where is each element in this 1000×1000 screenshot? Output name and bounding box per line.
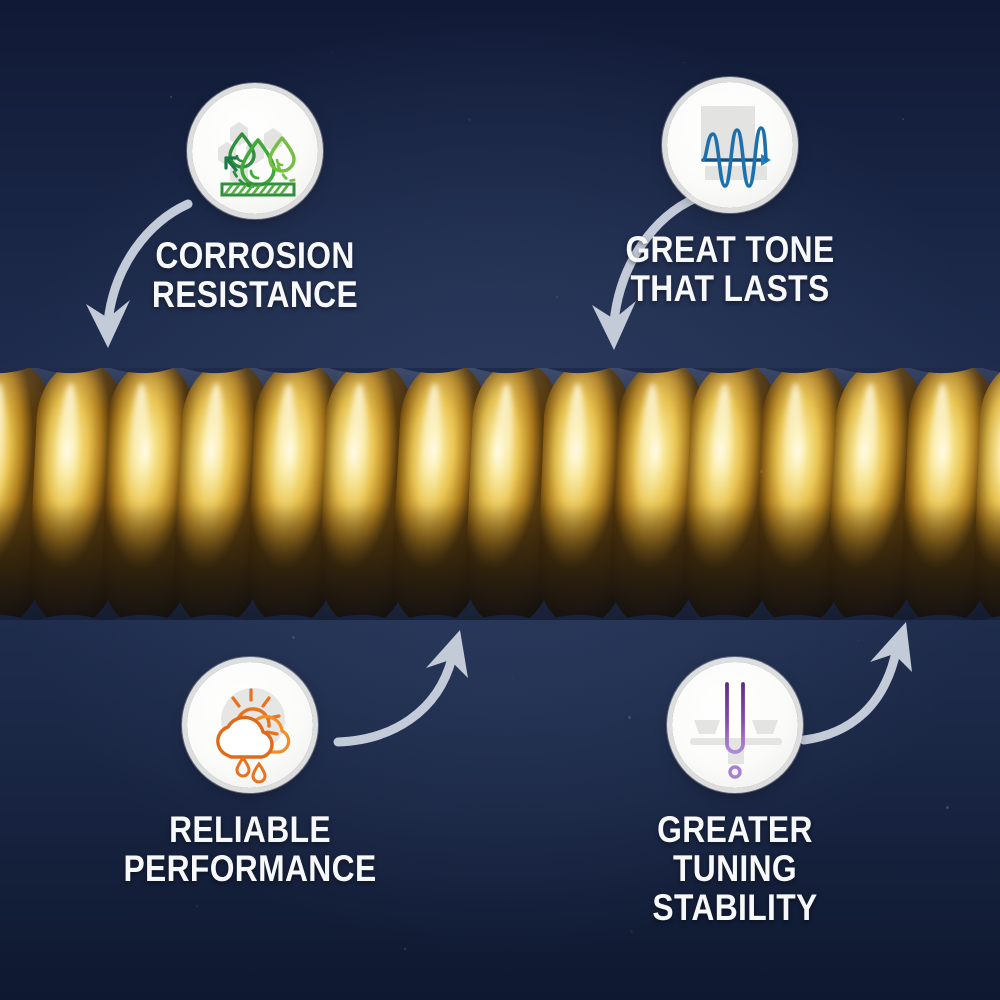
string-coil-group xyxy=(0,368,1000,620)
feature-reliable-performance: RELIABLE PERFORMANCE xyxy=(85,662,415,888)
feature-corrosion-resistance: CORROSION RESISTANCE xyxy=(90,88,420,314)
feature-greater-tuning-stability: GREATER TUNING STABILITY xyxy=(570,662,900,928)
product-image-gold-string xyxy=(0,368,1000,620)
background-speckle xyxy=(196,905,198,907)
tuning-fork-icon xyxy=(672,662,798,788)
background-speckle xyxy=(556,296,558,298)
feature-label-tone: GREAT TONE THAT LASTS xyxy=(588,230,872,308)
background-speckle xyxy=(332,52,333,53)
background-speckle xyxy=(684,62,685,63)
water-droplets-repelling-icon xyxy=(192,88,318,214)
badge-corrosion xyxy=(192,88,318,214)
sun-cloud-rain-icon xyxy=(187,662,313,788)
background-speckle xyxy=(404,948,406,950)
background-speckle xyxy=(512,678,513,679)
badge-tone xyxy=(667,82,793,208)
badge-tuning xyxy=(672,662,798,788)
badge-reliable xyxy=(187,662,313,788)
background-speckle xyxy=(858,640,859,641)
background-speckle xyxy=(630,930,633,933)
background-speckle xyxy=(292,636,295,639)
background-speckle xyxy=(468,118,471,121)
background-speckle xyxy=(902,118,904,120)
feature-label-tuning: GREATER TUNING STABILITY xyxy=(593,810,877,928)
feature-label-reliable: RELIABLE PERFORMANCE xyxy=(108,810,392,888)
background-speckle xyxy=(946,806,949,809)
sound-wave-icon xyxy=(667,82,793,208)
feature-great-tone: GREAT TONE THAT LASTS xyxy=(565,82,895,308)
infographic-canvas: CORROSION RESISTANCE GREAT TONE THAT LAS… xyxy=(0,0,1000,1000)
feature-label-corrosion: CORROSION RESISTANCE xyxy=(113,236,397,314)
